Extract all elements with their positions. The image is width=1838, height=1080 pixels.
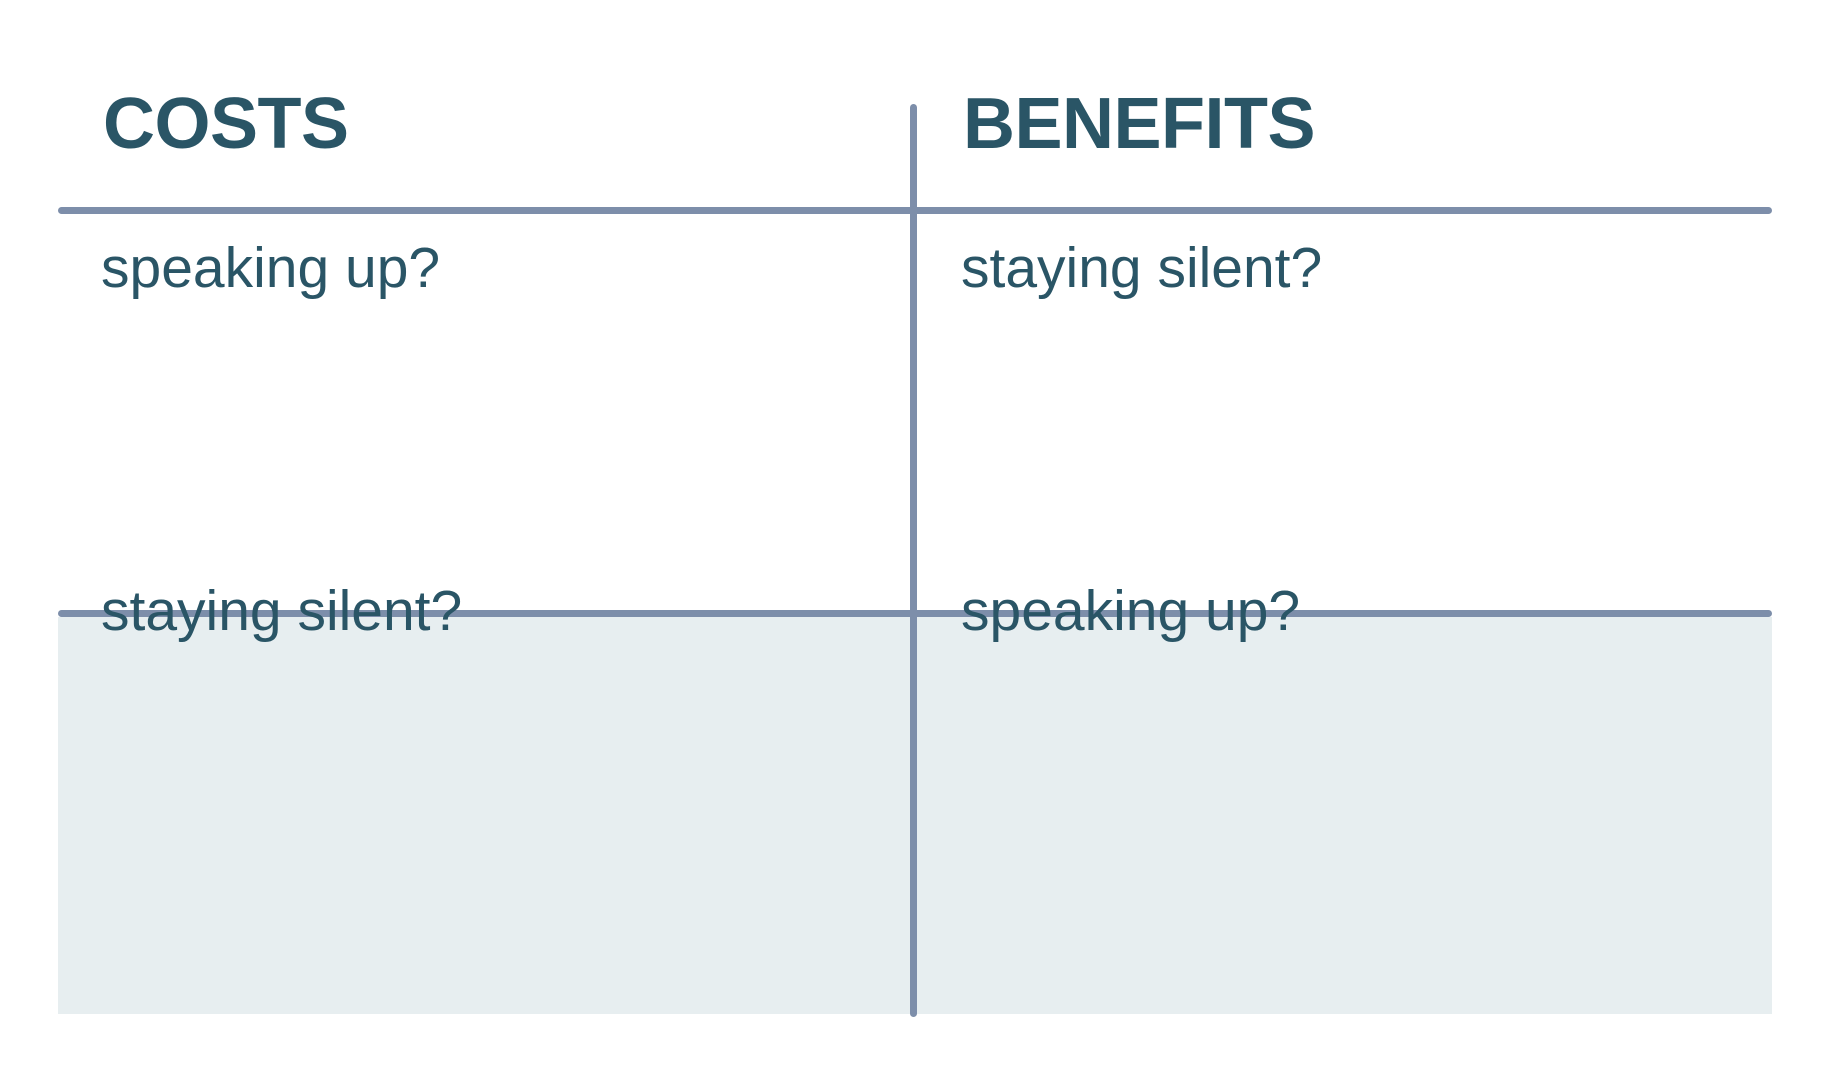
cell-benefits-row1: staying silent? [961, 240, 1322, 297]
column-divider-rule [910, 104, 917, 1017]
column-header-benefits: BENEFITS [963, 88, 1315, 160]
cell-costs-row1: speaking up? [101, 240, 440, 297]
cell-benefits-row2: speaking up? [961, 583, 1300, 640]
cell-costs-row2: staying silent? [101, 583, 462, 640]
costs-benefits-matrix: COSTS BENEFITS speaking up? staying sile… [0, 0, 1838, 1080]
column-header-costs: COSTS [103, 88, 349, 160]
